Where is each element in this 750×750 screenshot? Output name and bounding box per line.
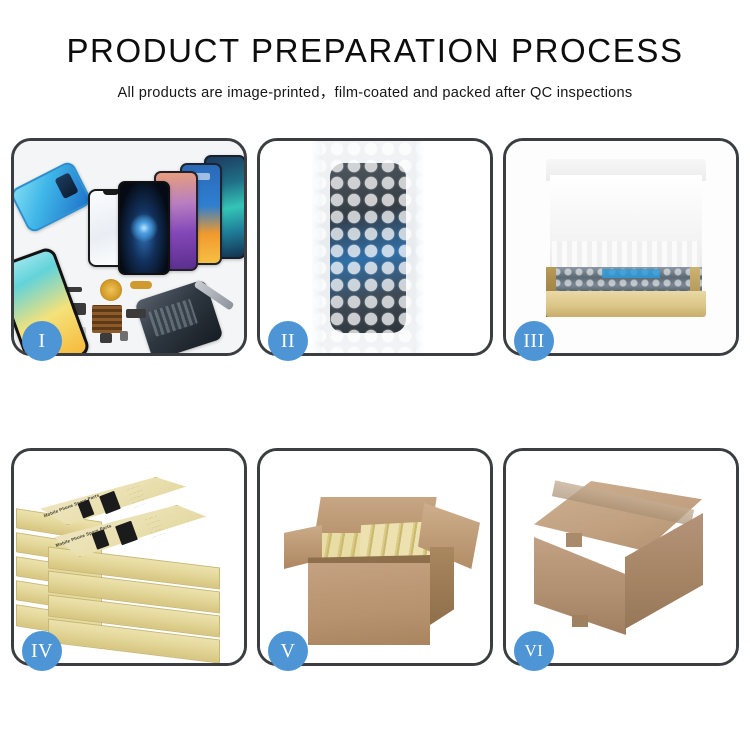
step-badge-5: V <box>268 631 308 671</box>
step-badge-3: III <box>514 321 554 361</box>
process-step-panel-1: I <box>11 138 247 356</box>
button-part <box>120 331 128 341</box>
camera-module-part <box>126 309 146 318</box>
carton-seam-bottom <box>572 615 588 627</box>
process-step-panel-5: V <box>257 448 493 666</box>
bag-edge-right <box>414 141 424 353</box>
process-step-panel-4: Mobile Phone Spare Parts ·· ···· ···· ··… <box>11 448 247 666</box>
process-step-panel-6: VI <box>503 448 739 666</box>
page-header: PRODUCT PREPARATION PROCESS All products… <box>0 0 750 102</box>
step-badge-2: II <box>268 321 308 361</box>
speaker-coil-part <box>100 279 122 301</box>
connector-grid-part <box>92 305 122 333</box>
process-step-panel-2: II <box>257 138 493 356</box>
carton-front-panel <box>308 563 430 645</box>
carton-seam-top <box>566 533 582 547</box>
flex-cable-part-2 <box>130 281 152 289</box>
vibrator-part <box>100 333 112 343</box>
process-step-panel-3: III <box>503 138 739 356</box>
page-title: PRODUCT PREPARATION PROCESS <box>0 34 750 69</box>
phone-black-jellyfish <box>118 181 170 275</box>
box-front-panel <box>546 291 706 317</box>
plastic-bag <box>312 141 424 353</box>
product-blue-accent <box>602 269 660 278</box>
bag-edge-left <box>312 141 322 353</box>
step-badge-1: I <box>22 321 62 361</box>
page-subtitle: All products are image-printed，film-coat… <box>0 81 750 102</box>
bubble-wrap-texture <box>312 141 424 353</box>
step-badge-4: IV <box>22 631 62 671</box>
process-step-grid: I II <box>11 138 739 666</box>
step-badge-6: VI <box>514 631 554 671</box>
